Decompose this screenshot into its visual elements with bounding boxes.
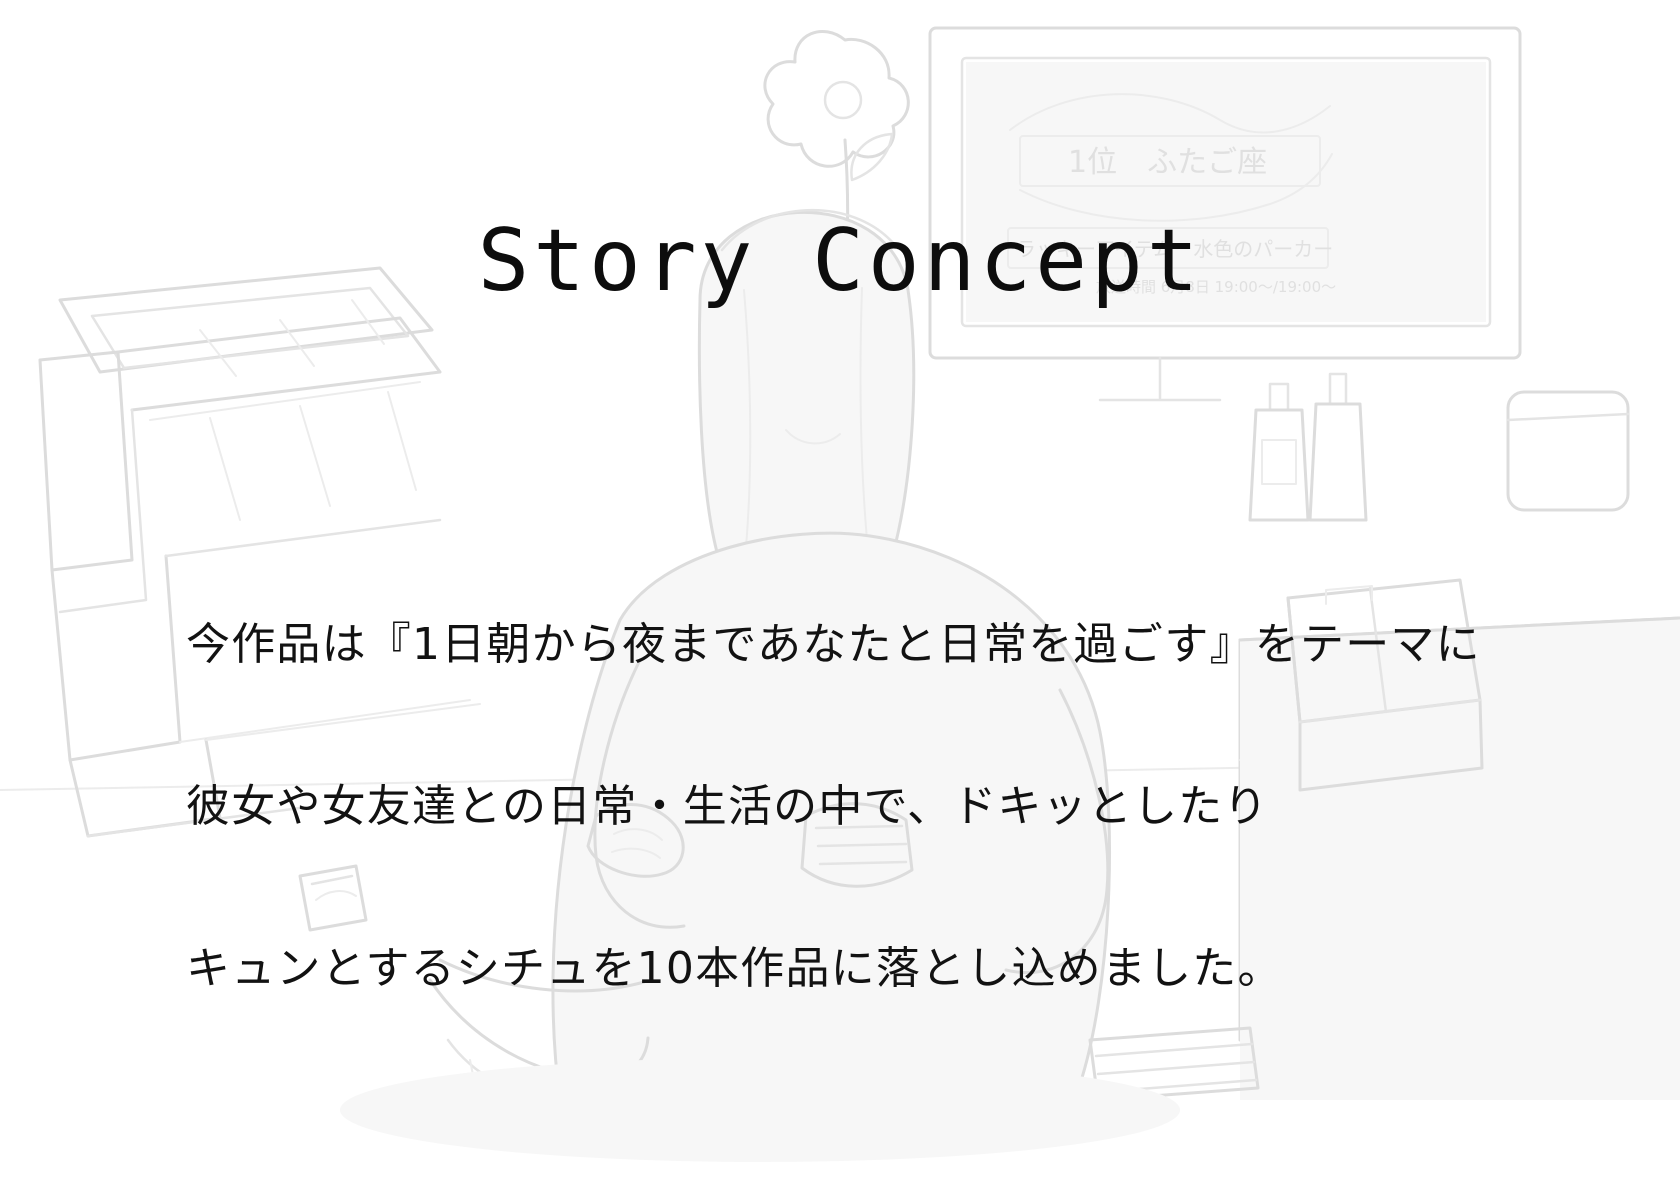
paragraph-theme-line-3: キュンとするシチュを10本作品に落とし込めました。: [186, 942, 1606, 996]
paragraph-theme-line-2: 彼女や女友達との日常・生活の中で、ドキッとしたり: [186, 780, 1606, 834]
paragraph-theme: 今作品は『1日朝から夜まであなたと日常を過ごす』をテーマに 彼女や女友達との日常…: [186, 510, 1606, 1104]
page-title: Story Concept: [0, 218, 1680, 304]
paragraph-theme-line-1: 今作品は『1日朝から夜まであなたと日常を過ごす』をテーマに: [186, 618, 1606, 672]
body-copy: 今作品は『1日朝から夜まであなたと日常を過ごす』をテーマに 彼女や女友達との日常…: [186, 348, 1606, 1200]
